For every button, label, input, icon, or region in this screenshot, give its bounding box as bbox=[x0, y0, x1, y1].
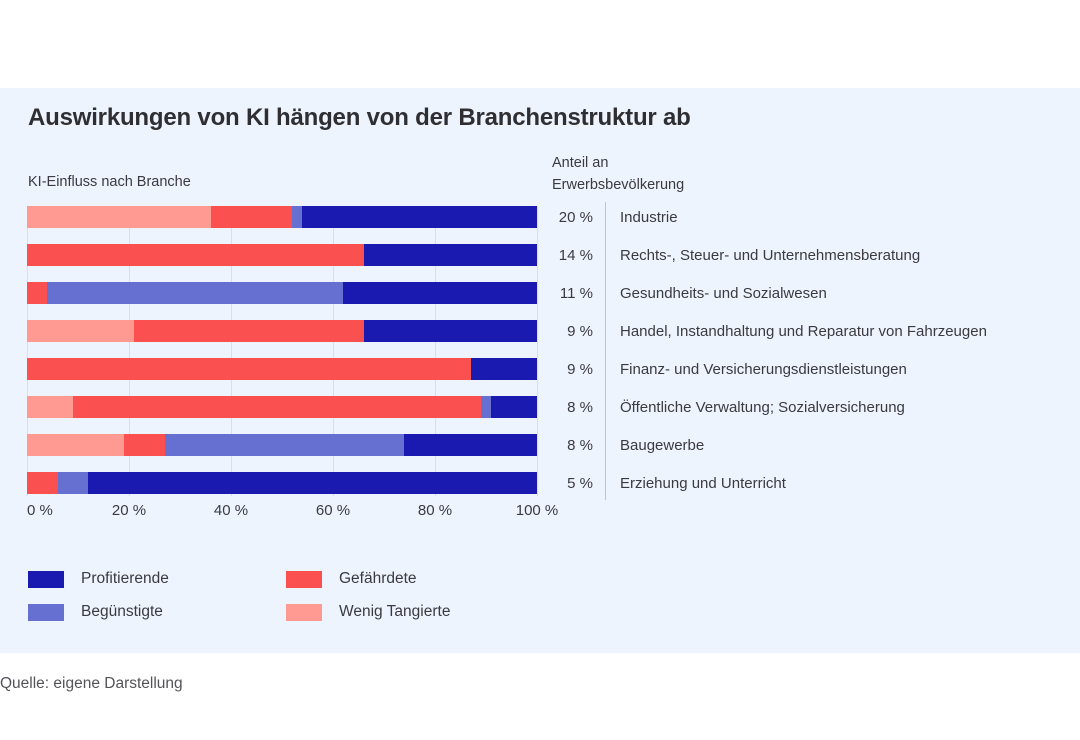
legend-label: Begünstigte bbox=[81, 603, 163, 621]
industry-label: Industrie bbox=[620, 209, 678, 226]
source-note: Quelle: eigene Darstellung bbox=[0, 675, 183, 693]
bar-segment-gefaehrdete[interactable] bbox=[27, 472, 58, 494]
bar-segment-profitierende[interactable] bbox=[364, 320, 537, 342]
bar-row[interactable] bbox=[27, 244, 537, 266]
page-title: Auswirkungen von KI hängen von der Branc… bbox=[28, 104, 691, 132]
legend-item[interactable]: Profitierende bbox=[28, 570, 169, 588]
side-label-column: 20 %Industrie14 %Rechts-, Steuer- und Un… bbox=[545, 206, 1065, 496]
legend-label: Wenig Tangierte bbox=[339, 603, 450, 621]
bar-segment-beguenstigte[interactable] bbox=[47, 282, 343, 304]
bar-segment-profitierende[interactable] bbox=[302, 206, 537, 228]
subtitle-right-line1: Anteil an bbox=[552, 152, 684, 174]
x-tick-label: 60 % bbox=[316, 502, 350, 519]
workforce-share-value: 14 % bbox=[545, 247, 593, 264]
side-row: 8 %Öffentliche Verwaltung; Sozialversich… bbox=[545, 396, 1065, 418]
stacked-bar[interactable] bbox=[27, 472, 537, 494]
stacked-bar[interactable] bbox=[27, 320, 537, 342]
side-row: 11 %Gesundheits- und Sozialwesen bbox=[545, 282, 1065, 304]
side-row: 9 %Handel, Instandhaltung und Reparatur … bbox=[545, 320, 1065, 342]
bar-row[interactable] bbox=[27, 320, 537, 342]
bar-segment-wenig-tangierte[interactable] bbox=[27, 434, 124, 456]
bar-segment-gefaehrdete[interactable] bbox=[134, 320, 364, 342]
side-row: 8 %Baugewerbe bbox=[545, 434, 1065, 456]
bar-row[interactable] bbox=[27, 358, 537, 380]
x-tick-label: 80 % bbox=[418, 502, 452, 519]
bar-segment-profitierende[interactable] bbox=[88, 472, 537, 494]
workforce-share-value: 8 % bbox=[545, 399, 593, 416]
stacked-bar[interactable] bbox=[27, 358, 537, 380]
industry-label: Öffentliche Verwaltung; Sozialversicheru… bbox=[620, 399, 905, 416]
stacked-bar[interactable] bbox=[27, 206, 537, 228]
workforce-share-value: 5 % bbox=[545, 475, 593, 492]
x-tick-label: 40 % bbox=[214, 502, 248, 519]
bar-segment-gefaehrdete[interactable] bbox=[211, 206, 293, 228]
bar-segment-gefaehrdete[interactable] bbox=[124, 434, 165, 456]
industry-label: Gesundheits- und Sozialwesen bbox=[620, 285, 827, 302]
industry-label: Baugewerbe bbox=[620, 437, 704, 454]
workforce-share-value: 9 % bbox=[545, 361, 593, 378]
bar-segment-profitierende[interactable] bbox=[471, 358, 537, 380]
industry-label: Erziehung und Unterricht bbox=[620, 475, 786, 492]
bar-segment-profitierende[interactable] bbox=[404, 434, 537, 456]
bar-row[interactable] bbox=[27, 282, 537, 304]
bar-row[interactable] bbox=[27, 396, 537, 418]
gridline-100 bbox=[537, 206, 538, 496]
bar-segment-wenig-tangierte[interactable] bbox=[27, 396, 73, 418]
bar-segment-gefaehrdete[interactable] bbox=[73, 396, 481, 418]
bar-segment-profitierende[interactable] bbox=[364, 244, 537, 266]
stacked-bar[interactable] bbox=[27, 434, 537, 456]
bar-segment-gefaehrdete[interactable] bbox=[27, 282, 47, 304]
workforce-share-value: 8 % bbox=[545, 437, 593, 454]
bar-segment-beguenstigte[interactable] bbox=[58, 472, 89, 494]
chart-subtitle-left: KI-Einfluss nach Branche bbox=[28, 174, 191, 190]
chart-subtitle-right: Anteil an Erwerbsbevölkerung bbox=[552, 152, 684, 196]
legend-swatch bbox=[28, 571, 64, 588]
industry-label: Rechts-, Steuer- und Unternehmensberatun… bbox=[620, 247, 920, 264]
bar-segment-beguenstigte[interactable] bbox=[165, 434, 405, 456]
stacked-bar[interactable] bbox=[27, 282, 537, 304]
bar-segment-wenig-tangierte[interactable] bbox=[27, 320, 134, 342]
industry-label: Finanz- und Versicherungsdienstleistunge… bbox=[620, 361, 907, 378]
workforce-share-value: 20 % bbox=[545, 209, 593, 226]
legend-label: Gefährdete bbox=[339, 570, 417, 588]
bar-segment-profitierende[interactable] bbox=[343, 282, 537, 304]
x-tick-label: 0 % bbox=[27, 502, 53, 519]
bar-segment-profitierende[interactable] bbox=[491, 396, 537, 418]
legend-swatch bbox=[28, 604, 64, 621]
side-row: 20 %Industrie bbox=[545, 206, 1065, 228]
side-row: 9 %Finanz- und Versicherungsdienstleistu… bbox=[545, 358, 1065, 380]
x-tick-label: 20 % bbox=[112, 502, 146, 519]
chart-page: Auswirkungen von KI hängen von der Branc… bbox=[0, 0, 1080, 740]
legend-swatch bbox=[286, 604, 322, 621]
stacked-bar[interactable] bbox=[27, 396, 537, 418]
chart-card: Auswirkungen von KI hängen von der Branc… bbox=[0, 88, 1080, 653]
side-row: 14 %Rechts-, Steuer- und Unternehmensber… bbox=[545, 244, 1065, 266]
workforce-share-value: 9 % bbox=[545, 323, 593, 340]
x-tick-label: 100 % bbox=[516, 502, 559, 519]
legend-swatch bbox=[286, 571, 322, 588]
bar-segment-gefaehrdete[interactable] bbox=[27, 358, 471, 380]
bar-row[interactable] bbox=[27, 434, 537, 456]
chart-legend: ProfitierendeGefährdeteBegünstigteWenig … bbox=[28, 570, 548, 640]
bar-row[interactable] bbox=[27, 206, 537, 228]
industry-label: Handel, Instandhaltung und Reparatur von… bbox=[620, 323, 987, 340]
subtitle-right-line2: Erwerbsbevölkerung bbox=[552, 174, 684, 196]
side-row: 5 %Erziehung und Unterricht bbox=[545, 472, 1065, 494]
bar-segment-beguenstigte[interactable] bbox=[292, 206, 302, 228]
x-axis: 0 %20 %40 %60 %80 %100 % bbox=[27, 496, 537, 526]
bar-rows bbox=[27, 206, 537, 496]
bar-segment-beguenstigte[interactable] bbox=[481, 396, 491, 418]
workforce-share-value: 11 % bbox=[545, 285, 593, 302]
legend-item[interactable]: Begünstigte bbox=[28, 603, 163, 621]
legend-item[interactable]: Gefährdete bbox=[286, 570, 417, 588]
stacked-bar[interactable] bbox=[27, 244, 537, 266]
legend-item[interactable]: Wenig Tangierte bbox=[286, 603, 450, 621]
bar-row[interactable] bbox=[27, 472, 537, 494]
bar-segment-gefaehrdete[interactable] bbox=[27, 244, 364, 266]
legend-label: Profitierende bbox=[81, 570, 169, 588]
bar-segment-wenig-tangierte[interactable] bbox=[27, 206, 211, 228]
plot-area bbox=[27, 206, 537, 496]
